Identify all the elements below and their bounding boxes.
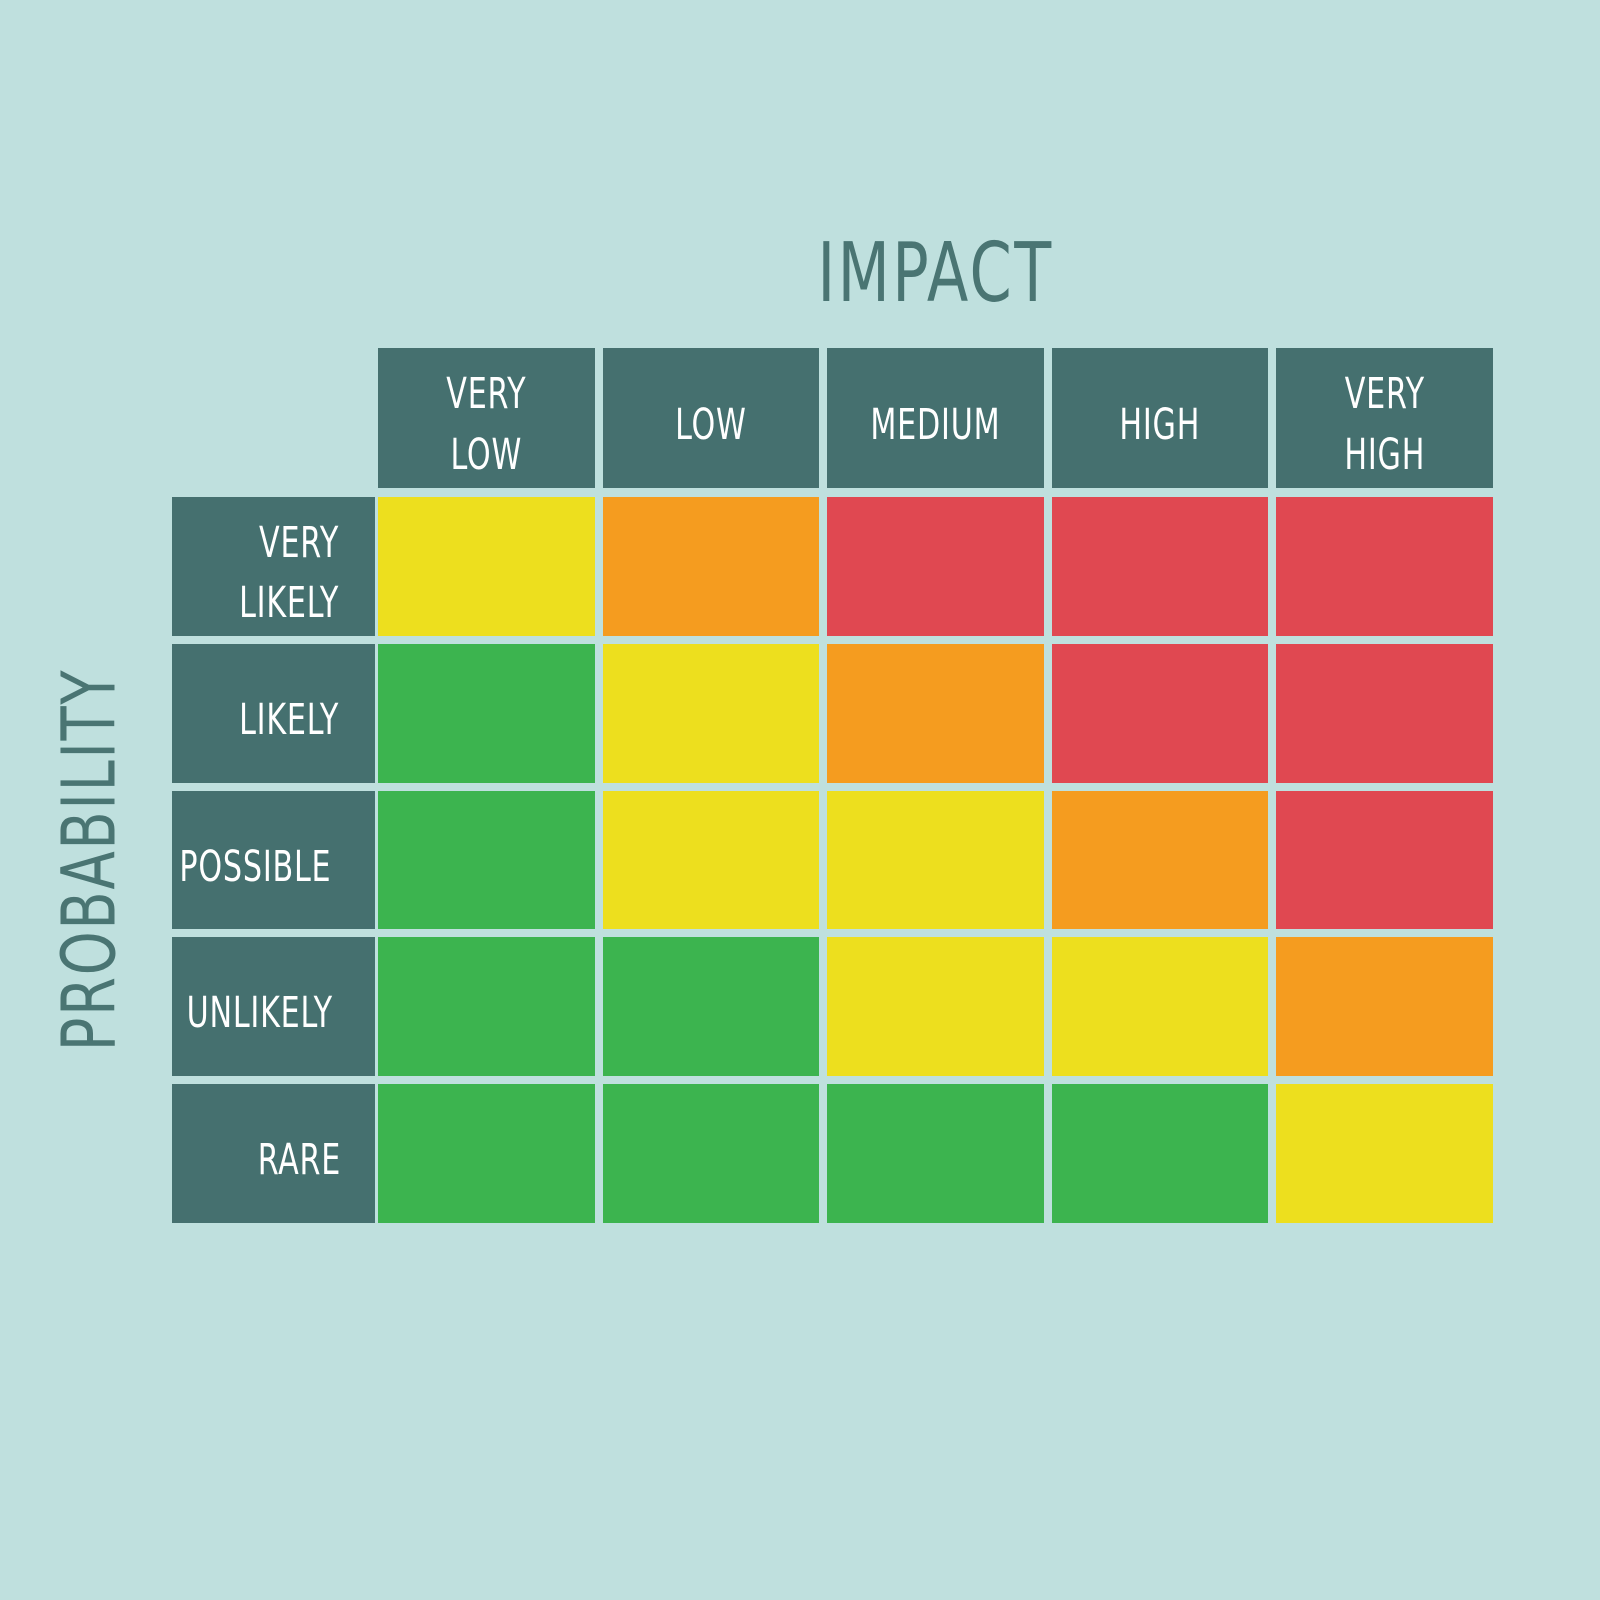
label-line-1: Medium [870,388,1000,449]
risk-cell-rare-low[interactable] [603,1084,820,1223]
probability-row-header-column: Very Likely Likely Possible Unlikely Rar… [172,497,375,1223]
risk-matrix-page: IMPACT PROBABILITY Very Low Low Medium H… [0,0,1600,1600]
probability-axis-title: PROBABILITY [47,669,133,1051]
label-line-2: Likely [239,566,339,627]
row-header-rare-label: Rare [258,1123,341,1184]
row-header-very-likely-label: Very Likely [239,506,339,628]
column-header-very-low[interactable]: Very Low [378,348,595,488]
risk-cell-rare-medium[interactable] [827,1084,1044,1223]
impact-column-header-row: Very Low Low Medium High Very High [378,348,1493,488]
column-header-very-high-label: Very High [1344,357,1425,479]
risk-cell-rare-very-high[interactable] [1276,1084,1493,1223]
risk-cell-likely-very-low[interactable] [378,644,595,783]
row-header-possible-label: Possible [180,830,332,891]
risk-cell-likely-high[interactable] [1052,644,1269,783]
label-line-2: High [1344,418,1425,479]
risk-cell-rare-very-low[interactable] [378,1084,595,1223]
column-header-very-low-label: Very Low [446,357,526,479]
row-header-very-likely[interactable]: Very Likely [172,497,375,636]
risk-cell-very-likely-very-low[interactable] [378,497,595,636]
risk-cell-likely-medium[interactable] [827,644,1044,783]
risk-cell-grid [378,497,1493,1223]
impact-axis-title: IMPACT [478,218,1392,328]
label-line-1: Unlikely [186,976,332,1037]
row-header-unlikely-label: Unlikely [186,976,332,1037]
column-header-high-label: High [1120,388,1201,449]
risk-cell-very-likely-high[interactable] [1052,497,1269,636]
risk-cell-unlikely-low[interactable] [603,937,820,1076]
label-line-1: Low [675,388,747,449]
column-header-high[interactable]: High [1052,348,1269,488]
risk-cell-very-likely-medium[interactable] [827,497,1044,636]
risk-cell-possible-low[interactable] [603,791,820,930]
row-header-rare[interactable]: Rare [172,1084,375,1223]
row-header-unlikely[interactable]: Unlikely [172,937,375,1076]
risk-cell-possible-high[interactable] [1052,791,1269,930]
label-line-1: Possible [180,830,332,891]
risk-cell-possible-very-high[interactable] [1276,791,1493,930]
risk-cell-unlikely-high[interactable] [1052,937,1269,1076]
label-line-1: Rare [258,1123,341,1184]
row-header-possible[interactable]: Possible [172,791,375,930]
column-header-low[interactable]: Low [603,348,820,488]
risk-cell-unlikely-medium[interactable] [827,937,1044,1076]
label-line-1: Very [1344,357,1425,418]
risk-cell-very-likely-very-high[interactable] [1276,497,1493,636]
risk-cell-unlikely-very-high[interactable] [1276,937,1493,1076]
risk-cell-likely-very-high[interactable] [1276,644,1493,783]
label-line-1: High [1120,388,1201,449]
risk-cell-possible-medium[interactable] [827,791,1044,930]
label-line-1: Very [239,506,339,567]
column-header-medium[interactable]: Medium [827,348,1044,488]
probability-axis-title-container: PROBABILITY [20,497,160,1223]
label-line-2: Low [446,418,526,479]
risk-cell-likely-low[interactable] [603,644,820,783]
column-header-very-high[interactable]: Very High [1276,348,1493,488]
row-header-likely-label: Likely [239,683,339,744]
label-line-1: Likely [239,683,339,744]
column-header-medium-label: Medium [870,388,1000,449]
risk-cell-unlikely-very-low[interactable] [378,937,595,1076]
column-header-low-label: Low [675,388,747,449]
risk-cell-very-likely-low[interactable] [603,497,820,636]
risk-cell-possible-very-low[interactable] [378,791,595,930]
row-header-likely[interactable]: Likely [172,644,375,783]
label-line-1: Very [446,357,526,418]
risk-cell-rare-high[interactable] [1052,1084,1269,1223]
